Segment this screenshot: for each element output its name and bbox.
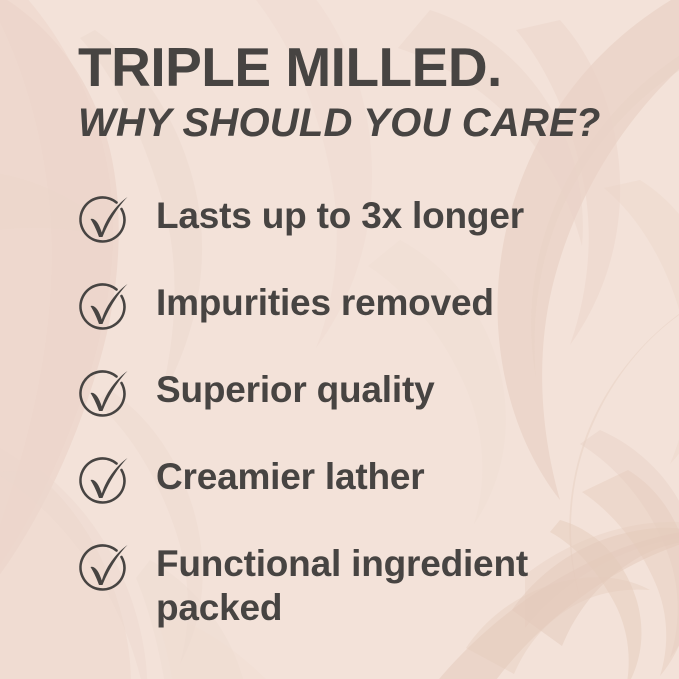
poster-content: TRIPLE MILLED. WHY SHOULD YOU CARE? Last… [0, 0, 679, 679]
list-item-label: Superior quality [156, 362, 632, 412]
list-item-label: Lasts up to 3x longer [156, 188, 632, 238]
list-item-label: Creamier lather [156, 449, 632, 499]
list-item: Functional ingredient packed [72, 536, 632, 623]
list-item-label: Impurities removed [156, 275, 632, 325]
benefit-list: Lasts up to 3x longer Impurities removed [72, 188, 632, 623]
page-subtitle: WHY SHOULD YOU CARE? [78, 95, 601, 143]
list-item: Superior quality [72, 362, 632, 449]
list-item: Impurities removed [72, 275, 632, 362]
check-circle-icon [72, 276, 134, 338]
check-circle-icon [72, 537, 134, 599]
check-circle-icon [72, 189, 134, 251]
list-item: Creamier lather [72, 449, 632, 536]
list-item: Lasts up to 3x longer [72, 188, 632, 275]
product-benefits-poster: TRIPLE MILLED. WHY SHOULD YOU CARE? Last… [0, 0, 679, 679]
headline-block: TRIPLE MILLED. WHY SHOULD YOU CARE? [78, 40, 601, 143]
list-item-label: Functional ingredient packed [156, 536, 632, 630]
check-circle-icon [72, 450, 134, 512]
check-circle-icon [72, 363, 134, 425]
page-title: TRIPLE MILLED. [78, 40, 601, 95]
